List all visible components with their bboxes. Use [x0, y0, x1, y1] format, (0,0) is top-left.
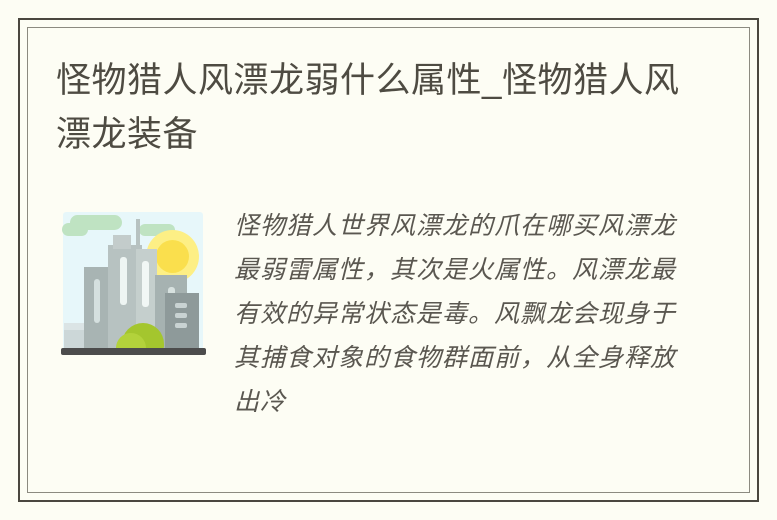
building-window-shape [94, 279, 100, 323]
article-thumbnail [56, 205, 210, 360]
antenna-shape [136, 219, 140, 249]
article-content-row: 怪物猎人世界风漂龙的爪在哪买风漂龙最弱雷属性，其次是火属性。风漂龙最有效的异常状… [56, 205, 696, 425]
building-window-shape [120, 257, 127, 305]
building-window-shape [142, 261, 149, 307]
building-window-shape [175, 323, 187, 328]
cloud-icon [62, 223, 88, 236]
article-body: 怪物猎人世界风漂龙的爪在哪买风漂龙最弱雷属性，其次是火属性。风漂龙最有效的异常状… [234, 205, 696, 425]
building-window-shape [175, 313, 187, 318]
building-shape [165, 293, 199, 349]
ground-bar-shape [61, 348, 206, 355]
article-page: 怪物猎人风漂龙弱什么属性_怪物猎人风漂龙装备 [0, 0, 777, 520]
page-title: 怪物猎人风漂龙弱什么属性_怪物猎人风漂龙装备 [56, 54, 686, 162]
building-roof-shape [113, 235, 131, 249]
building-window-shape [175, 303, 187, 308]
sun-core-icon [156, 240, 189, 273]
